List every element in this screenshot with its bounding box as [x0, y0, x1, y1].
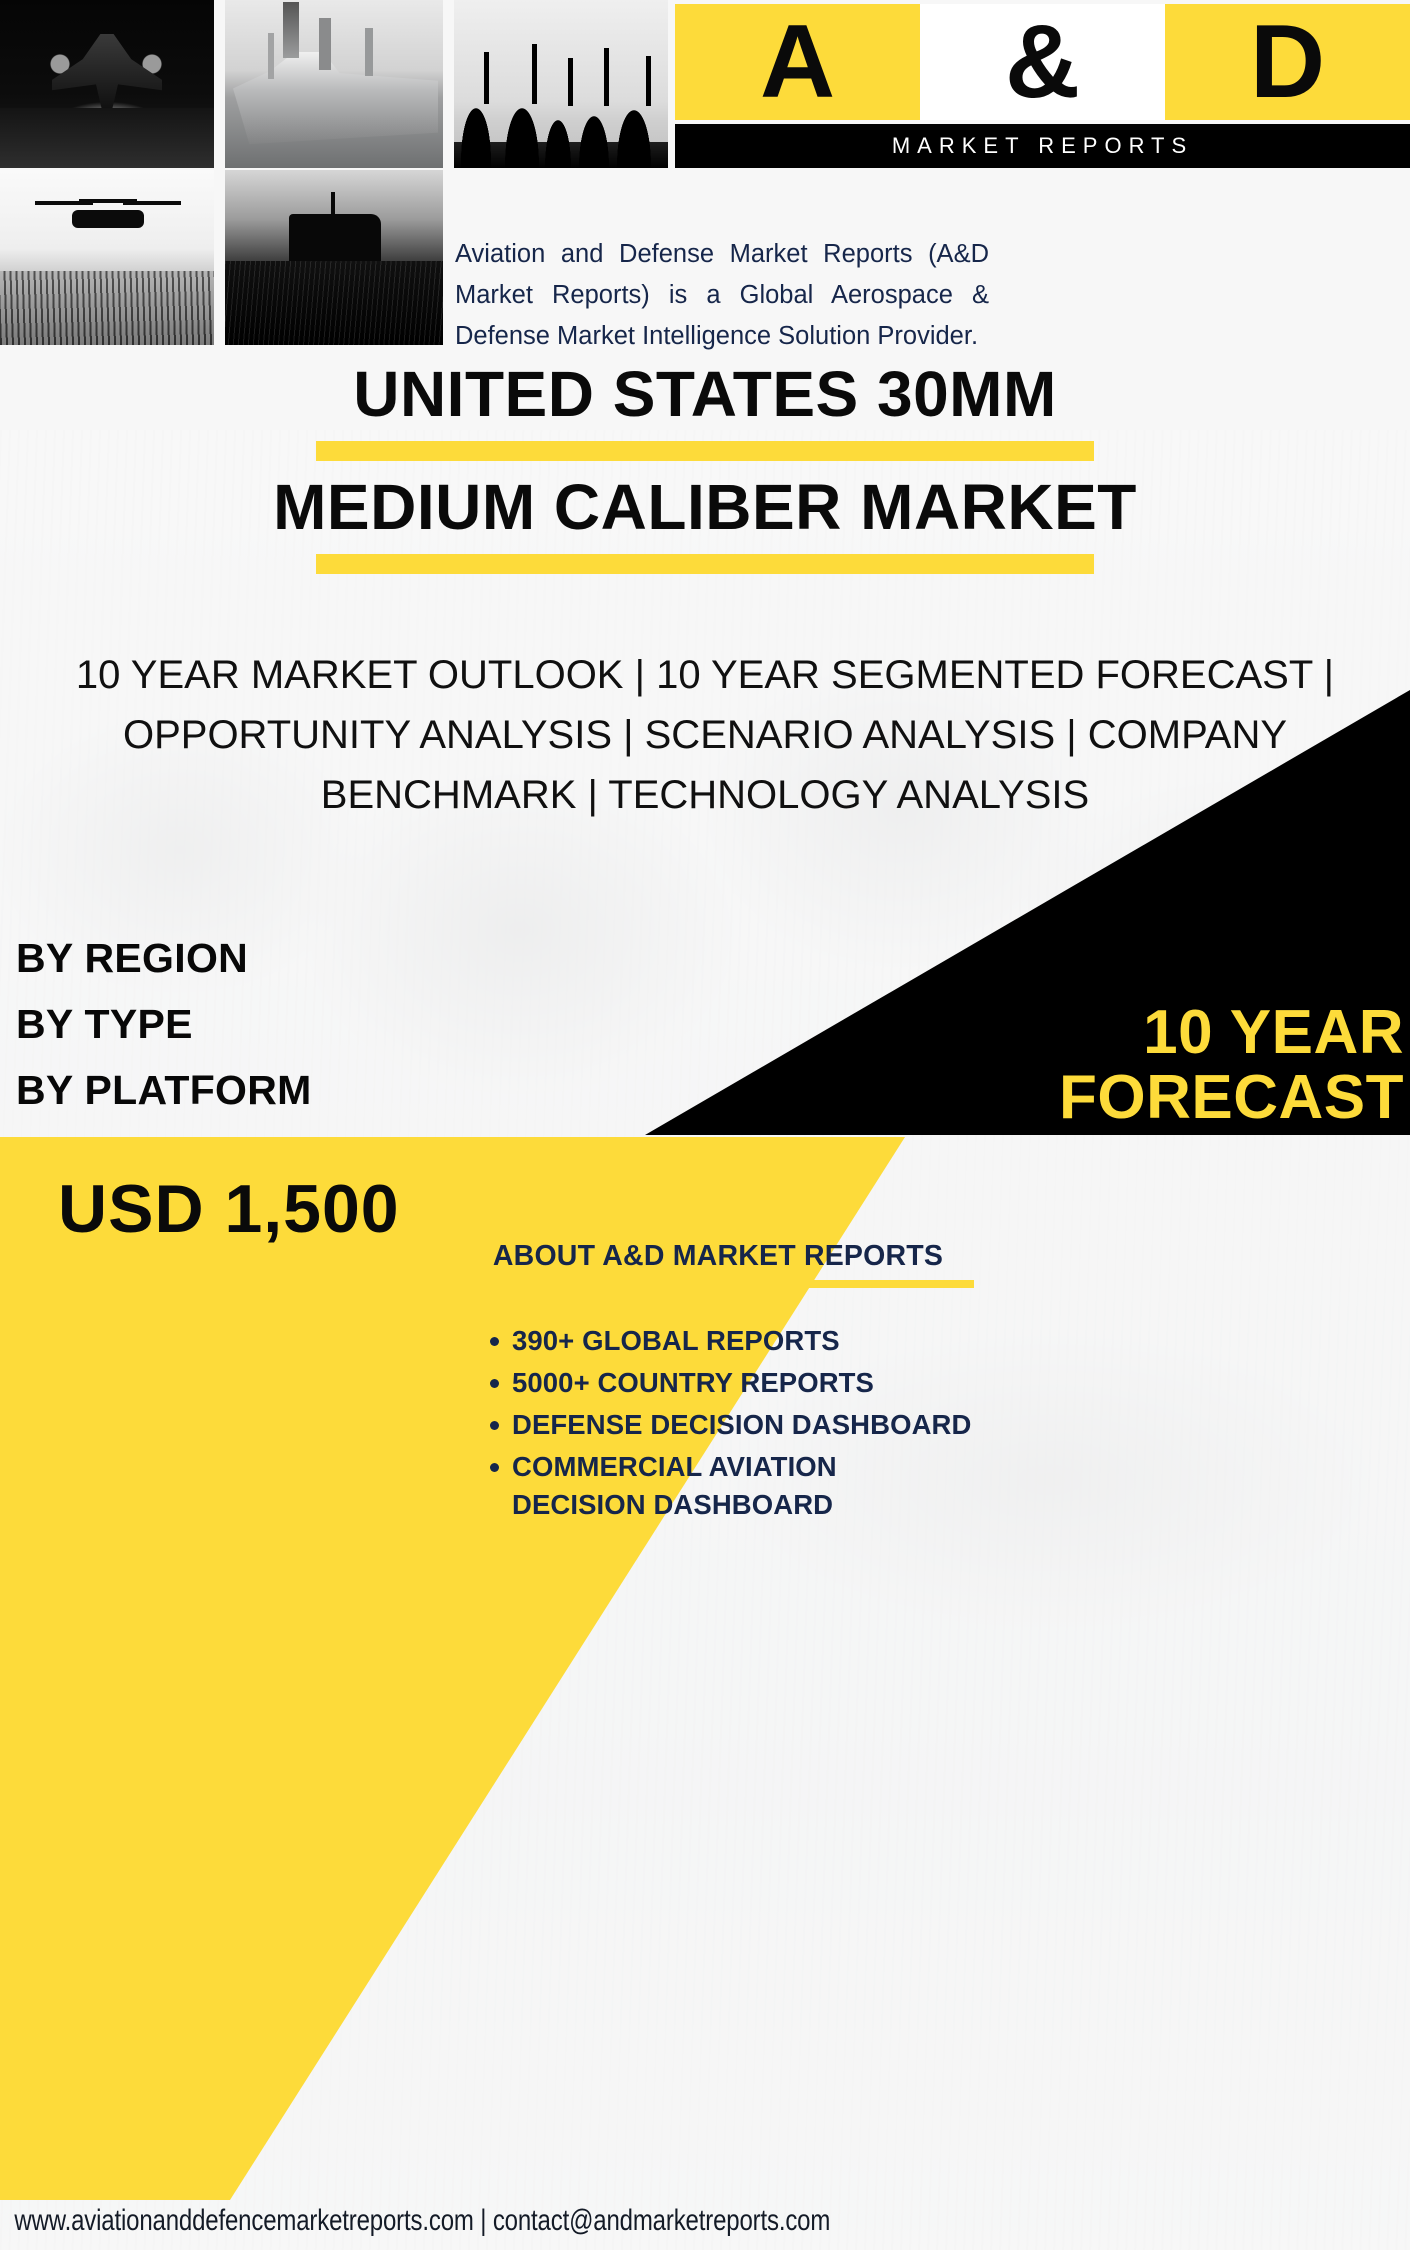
- segmentation-list: BY REGION BY TYPE BY PLATFORM: [16, 925, 312, 1123]
- logo-tagline-bar: MARKET REPORTS: [675, 124, 1410, 168]
- about-bullet-list: 390+ GLOBAL REPORTS 5000+ COUNTRY REPORT…: [458, 1322, 978, 1524]
- forecast-line-1: 10 YEAR: [764, 1000, 1404, 1065]
- logo-letter-ampersand: &: [920, 4, 1165, 120]
- report-title-line-1: UNITED STATES 30MM: [0, 360, 1410, 429]
- aircraft-carrier-photo: [225, 0, 443, 168]
- logo-tagline-text: MARKET REPORTS: [892, 133, 1193, 159]
- footer-contact-bar: www.aviationanddefencemarketreports.com …: [0, 2192, 1410, 2250]
- list-item: DEFENSE DECISION DASHBOARD: [512, 1406, 978, 1444]
- report-cover-page: A & D MARKET REPORTS Aviation and Defens…: [0, 0, 1410, 2250]
- segment-item-region: BY REGION: [16, 925, 312, 991]
- list-item: COMMERCIAL AVIATION DECISION DASHBOARD: [512, 1448, 978, 1524]
- logo-letter-a: A: [675, 4, 920, 120]
- brand-logo: A & D MARKET REPORTS: [675, 0, 1410, 168]
- list-item: 5000+ COUNTRY REPORTS: [512, 1364, 978, 1402]
- report-title-block: UNITED STATES 30MM MEDIUM CALIBER MARKET: [0, 360, 1410, 586]
- segment-item-type: BY TYPE: [16, 991, 312, 1057]
- report-scope-subtitle: 10 YEAR MARKET OUTLOOK | 10 YEAR SEGMENT…: [40, 645, 1370, 825]
- list-item: 390+ GLOBAL REPORTS: [512, 1322, 978, 1360]
- footer-separator: |: [474, 2204, 493, 2237]
- armored-vehicle-photo: [225, 170, 443, 345]
- footer-website[interactable]: www.aviationanddefencemarketreports.com: [14, 2204, 473, 2237]
- fighter-jet-photo: [0, 0, 214, 168]
- logo-letter-row: A & D: [675, 4, 1410, 120]
- footer-text: www.aviationanddefencemarketreports.com …: [0, 2204, 830, 2238]
- title-divider-bar-bottom: [316, 554, 1094, 574]
- about-heading-underline: [458, 1280, 974, 1288]
- price-label: USD 1,500: [58, 1170, 400, 1248]
- about-section: ABOUT A&D MARKET REPORTS 390+ GLOBAL REP…: [458, 1240, 978, 1528]
- about-heading: ABOUT A&D MARKET REPORTS: [458, 1240, 978, 1273]
- soldiers-silhouette-photo: [454, 0, 668, 168]
- report-title-line-2: MEDIUM CALIBER MARKET: [0, 473, 1410, 542]
- forecast-line-2: FORECAST: [764, 1065, 1404, 1130]
- forecast-badge: 10 YEAR FORECAST: [764, 1000, 1404, 1130]
- helicopter-photo: [0, 170, 214, 345]
- company-intro-text: Aviation and Defense Market Reports (A&D…: [455, 234, 989, 357]
- logo-letter-d: D: [1165, 4, 1410, 120]
- segment-item-platform: BY PLATFORM: [16, 1057, 312, 1123]
- title-divider-bar-top: [316, 441, 1094, 461]
- footer-email[interactable]: contact@andmarketreports.com: [493, 2204, 830, 2237]
